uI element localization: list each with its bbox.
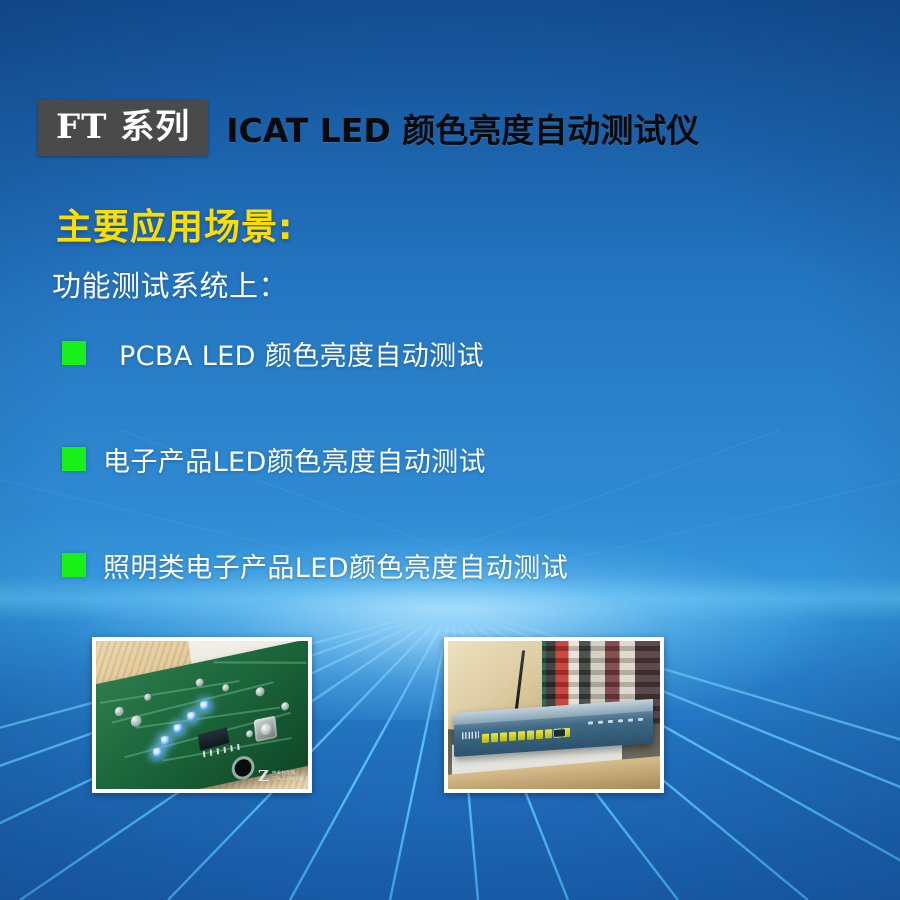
list-item: 电子产品LED颜色亮度自动测试 (62, 438, 862, 480)
application-bullet-list: PCBA LED 颜色亮度自动测试 电子产品LED颜色亮度自动测试 照明类电子产… (62, 332, 862, 650)
watermark-lines: 中关村在线 ZOL.COM.CN (272, 771, 303, 782)
network-device-scene (448, 641, 660, 789)
watermark-letter: Z (258, 769, 269, 784)
green-square-icon (62, 553, 86, 577)
list-item-label: PCBA LED 颜色亮度自动测试 (119, 334, 484, 373)
promo-banner: FT 系列 ICAT LED 颜色亮度自动测试仪 主要应用场景: 功能测试系统上… (0, 0, 900, 900)
list-item: PCBA LED 颜色亮度自动测试 (62, 332, 862, 374)
green-square-icon (62, 341, 86, 365)
watermark-line-1: 中关村在线 (272, 771, 303, 776)
list-item-label: 电子产品LED颜色亮度自动测试 (103, 440, 486, 479)
pcba-board-photo: Z 中关村在线 ZOL.COM.CN (92, 637, 312, 793)
list-item-label: 照明类电子产品LED颜色亮度自动测试 (103, 546, 568, 585)
green-square-icon (62, 447, 86, 471)
series-badge: FT 系列 (38, 100, 208, 156)
network-device-photo (444, 637, 664, 793)
usb-port-icon (554, 729, 565, 737)
title-row: FT 系列 ICAT LED 颜色亮度自动测试仪 (38, 100, 699, 156)
list-item: 照明类电子产品LED颜色亮度自动测试 (62, 544, 862, 586)
zol-watermark: Z 中关村在线 ZOL.COM.CN (258, 769, 303, 784)
photo-strip: Z 中关村在线 ZOL.COM.CN (0, 637, 900, 797)
watermark-line-2: ZOL.COM.CN (272, 777, 303, 782)
section-sub-heading: 功能测试系统上： (52, 263, 288, 305)
pcba-photo-scene: Z 中关村在线 ZOL.COM.CN (96, 641, 308, 789)
cisco-logo-icon (462, 732, 479, 740)
section-heading: 主要应用场景: (56, 198, 293, 250)
page-title: ICAT LED 颜色亮度自动测试仪 (226, 104, 699, 152)
status-led-row (589, 718, 644, 725)
